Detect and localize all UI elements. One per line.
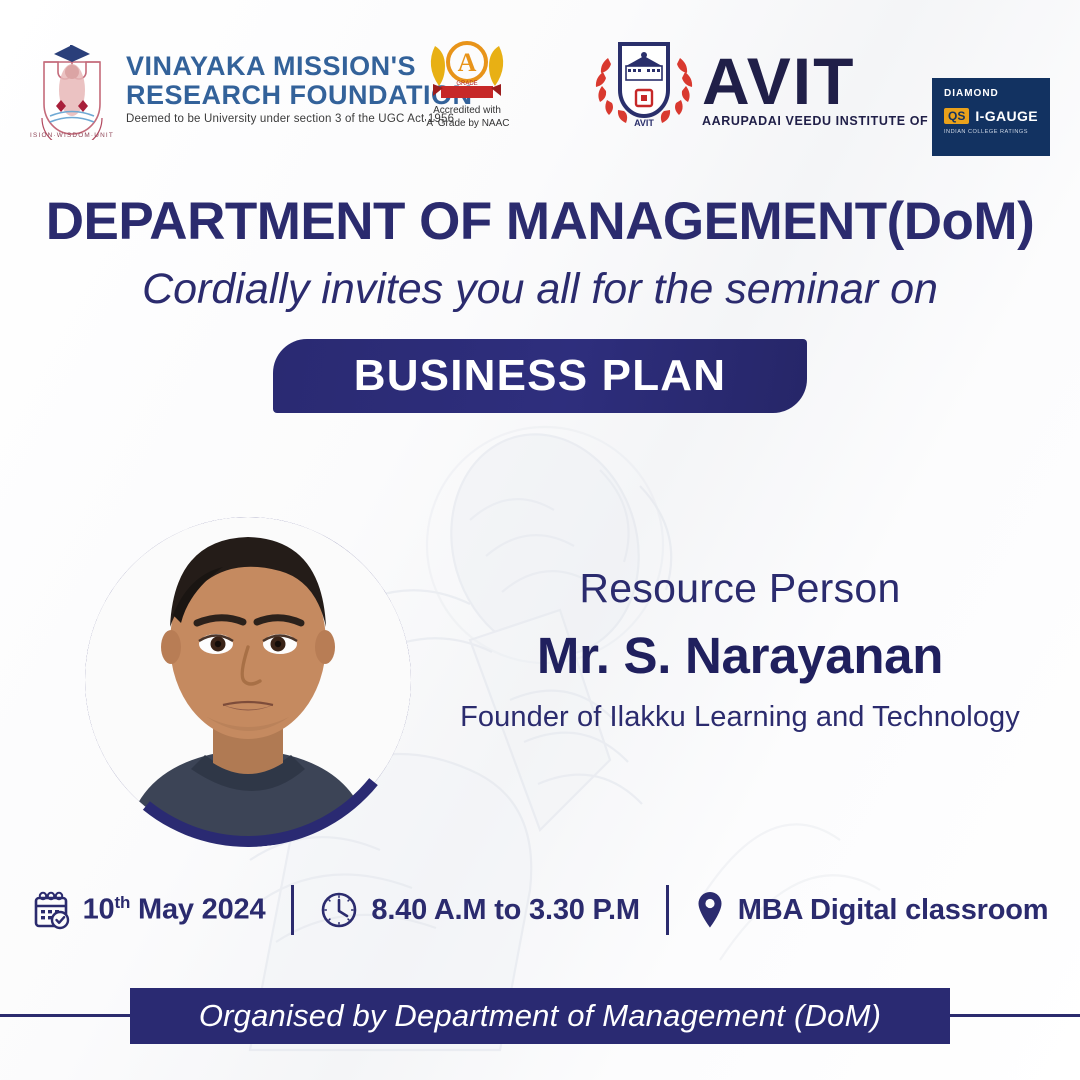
speaker-label: Resource Person [430,565,1050,612]
speaker-role: Founder of Ilakku Learning and Technolog… [430,701,1050,734]
event-poster: VISION·WISDOM·UNITY VINAYAKA MISSION'S R… [0,0,1080,1080]
speaker-photo [85,455,415,845]
avit-crest-label: AVIT [634,118,654,128]
naac-grade-icon: A GRADE [421,36,513,98]
detail-venue: MBA Digital classroom [695,889,1049,931]
naac-caption-line1: Accredited with [412,105,522,118]
page-title: DEPARTMENT OF MANAGEMENT(DoM) [0,191,1080,252]
qs-badge: QS [944,108,969,124]
invite-line: Cordially invites you all for the semina… [0,265,1080,314]
qs-footer-text: INDIAN COLLEGE RATINGS [944,129,1050,135]
naac-logo: A GRADE Accredited with 'A' Grade by NAA… [412,36,522,130]
detail-venue-text: MBA Digital classroom [738,894,1049,927]
location-pin-icon [695,889,725,931]
qs-igauge-logo: DIAMOND QS I-GAUGE INDIAN COLLEGE RATING… [932,78,1050,156]
detail-time-text: 8.40 A.M to 3.30 P.M [371,894,639,927]
qs-igauge-name: I-GAUGE [975,108,1038,124]
detail-separator [291,885,294,935]
detail-date-text: 10th May 2024 [83,893,266,927]
qs-tier-label: DIAMOND [944,88,1050,99]
vmrf-emblem-icon: VISION·WISDOM·UNITY [30,38,114,140]
organiser-label: Organised by Department of Management (D… [199,998,881,1034]
calendar-icon [32,890,70,930]
detail-time: 8.40 A.M to 3.30 P.M [320,890,639,930]
avit-crest-icon: AVIT [592,36,696,128]
speaker-name: Mr. S. Narayanan [430,626,1050,685]
naac-grade-letter: A [458,48,477,77]
naac-caption-line2: 'A' Grade by NAAC [412,118,522,131]
speaker-block: Resource Person Mr. S. Narayanan Founder… [430,565,1050,734]
event-details-bar: 10th May 2024 8.40 A.M to 3.30 P.M [0,880,1080,940]
organiser-banner: Organised by Department of Management (D… [130,988,950,1044]
detail-date: 10th May 2024 [32,890,266,930]
vmrf-logo: VISION·WISDOM·UNITY VINAYAKA MISSION'S R… [30,38,473,140]
seminar-topic-label: BUSINESS PLAN [354,351,727,401]
detail-separator [666,885,669,935]
svg-text:VISION·WISDOM·UNITY: VISION·WISDOM·UNITY [30,132,114,139]
seminar-topic-banner: BUSINESS PLAN [273,339,807,413]
header-logo-bar: VISION·WISDOM·UNITY VINAYAKA MISSION'S R… [0,28,1080,148]
clock-icon [320,890,358,930]
